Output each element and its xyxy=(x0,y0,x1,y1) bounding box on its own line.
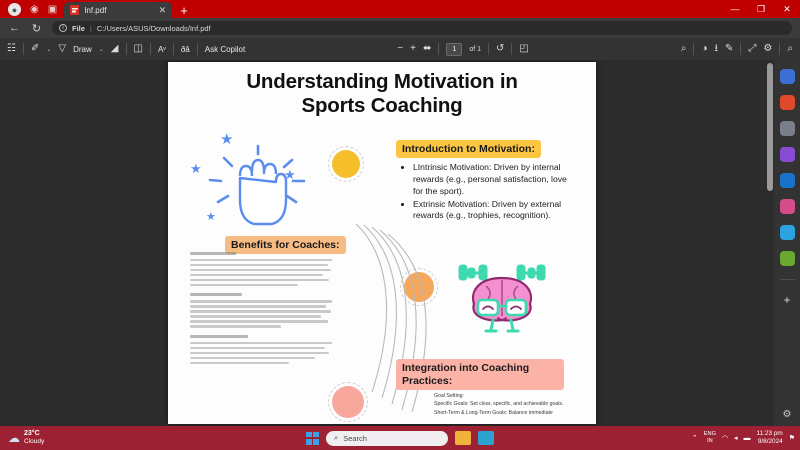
pdf-toolbar: ☷ ✐ ⌄ ▽ Draw ⌄ ◢ ◫ Aᵛ ðâ Ask Copilot − +… xyxy=(0,38,800,60)
sidebar-item-shopping[interactable] xyxy=(780,95,795,110)
introduction-bullet-list: LIntrinsic Motivation: Driven by interna… xyxy=(402,162,574,223)
microtext-line xyxy=(190,315,321,317)
document-scrollbar[interactable] xyxy=(766,60,774,426)
page-total-label: of 1 xyxy=(469,46,481,53)
page-title-line1: Understanding Motivation in xyxy=(194,70,570,94)
back-icon[interactable]: ← xyxy=(8,22,21,34)
search-placeholder: Search xyxy=(343,434,367,443)
taskbar-center-group: ⌕ Search xyxy=(306,431,494,446)
language-line2: IN xyxy=(707,438,713,444)
brain-workout-mascot xyxy=(456,260,548,338)
document-scroll-region[interactable]: Understanding Motivation in Sports Coach… xyxy=(0,60,774,426)
view-layout-icon[interactable]: ◫ xyxy=(134,44,143,54)
page-title-line2: Sports Coaching xyxy=(194,94,570,118)
split-screen-icon[interactable]: ▣ xyxy=(48,5,57,15)
section-heading-introduction: Introduction to Motivation: xyxy=(396,140,541,158)
highlight-icon[interactable]: ✐ xyxy=(31,44,39,54)
toolbar-divider xyxy=(23,43,24,55)
toolbar-divider xyxy=(197,43,198,55)
star-icon: ★ xyxy=(190,162,202,175)
search-icon[interactable]: ⌕ xyxy=(681,44,687,54)
microtext-line xyxy=(190,274,323,276)
pdf-file-icon xyxy=(70,5,79,15)
annotate-icon[interactable]: ✎ xyxy=(725,44,733,54)
weather-condition: Cloudy xyxy=(24,438,44,445)
integration-body-text: Goal Setting: Specific Goals: Set clear,… xyxy=(434,392,584,417)
language-line1: ENG xyxy=(704,431,716,437)
new-tab-button[interactable]: + xyxy=(172,4,196,18)
wifi-icon[interactable]: ◠ xyxy=(722,434,728,442)
microtext-line xyxy=(190,342,332,344)
refresh-icon[interactable]: ↻ xyxy=(30,22,43,35)
notification-bell-icon[interactable]: ⚑ xyxy=(789,434,795,442)
microtext-line xyxy=(190,279,329,281)
microtext-subheading xyxy=(190,335,248,338)
search-icon: ⌕ xyxy=(334,433,338,443)
close-icon[interactable]: ✕ xyxy=(159,5,167,16)
toolbar-divider xyxy=(438,43,439,55)
star-icon: ★ xyxy=(206,212,216,223)
toolbar-divider xyxy=(150,43,151,55)
microtext-line xyxy=(190,269,331,271)
browser-tab-inf-pdf[interactable]: Inf.pdf ✕ xyxy=(64,2,172,18)
microtext-line xyxy=(190,305,326,307)
fit-page-icon[interactable]: ⬌ xyxy=(423,44,431,54)
microtext-subheading xyxy=(190,293,242,296)
window-controls: — ❐ ✕ xyxy=(722,0,800,18)
page-title: Understanding Motivation in Sports Coach… xyxy=(168,62,596,118)
clock-time: 11:23 pm xyxy=(757,430,783,437)
url-separator: | xyxy=(90,24,92,33)
highlight-chevron-down-icon[interactable]: ⌄ xyxy=(46,46,51,53)
browser-tab-strip: ● ◉ ▣ Inf.pdf ✕ + — ❐ ✕ xyxy=(0,0,800,18)
microtext-line xyxy=(190,284,298,286)
toolbar-divider xyxy=(126,43,127,55)
clock-date: 9/8/2024 xyxy=(758,438,783,445)
orb-yellow xyxy=(332,150,360,178)
tray-chevron-up-icon[interactable]: ⌃ xyxy=(692,434,698,442)
taskbar-item-file-explorer[interactable] xyxy=(455,431,471,445)
sidebar-item-outlook[interactable] xyxy=(780,173,795,188)
toolbar-divider xyxy=(740,43,741,55)
section-heading-integration: Integration into Coaching Practices: xyxy=(396,359,564,390)
toolbar-divider xyxy=(693,43,694,55)
raised-fist-icon xyxy=(198,140,318,232)
minimize-button[interactable]: — xyxy=(722,0,748,18)
erase-icon[interactable]: ◢ xyxy=(111,44,119,54)
toolbar-divider xyxy=(779,43,780,55)
star-icon: ★ xyxy=(220,132,233,147)
sidebar-item-tree[interactable] xyxy=(780,251,795,266)
microtext-line xyxy=(190,362,289,364)
clock[interactable]: 11:23 pm 9/8/2024 xyxy=(757,430,783,445)
pdf-page-1: Understanding Motivation in Sports Coach… xyxy=(168,62,596,424)
sidebar-settings-gear-icon[interactable]: ⚙ xyxy=(783,409,792,420)
settings-gear-icon[interactable]: ⚙ xyxy=(763,44,772,54)
language-indicator[interactable]: ENG IN xyxy=(704,431,716,444)
microtext-line xyxy=(190,347,325,349)
close-window-button[interactable]: ✕ xyxy=(774,0,800,18)
microtext-line xyxy=(190,300,332,302)
volume-icon[interactable]: ◂ xyxy=(734,434,738,442)
zoom-out-button[interactable]: − xyxy=(397,44,403,54)
maximize-button[interactable]: ❐ xyxy=(748,0,774,18)
microtext-line xyxy=(190,325,281,327)
tab-title: Inf.pdf xyxy=(84,6,153,15)
window-system-icons: ● ◉ ▣ xyxy=(0,3,64,18)
table-of-contents-icon[interactable]: ☷ xyxy=(7,44,16,54)
toolbar-divider xyxy=(511,43,512,55)
system-tray: ⌃ ENG IN ◠ ◂ ▬ 11:23 pm 9/8/2024 ⚑ xyxy=(692,430,795,445)
benefits-body-text xyxy=(190,252,332,367)
search-input[interactable]: ⌕ Search xyxy=(326,431,448,446)
draw-icon[interactable]: ▽ xyxy=(58,44,66,54)
save-icon[interactable]: ⭳ xyxy=(715,44,719,54)
profile-icon[interactable]: ● xyxy=(8,3,21,16)
microtext-line xyxy=(190,352,329,354)
ask-copilot-button[interactable]: Ask Copilot xyxy=(205,45,245,54)
pdf-workspace: Understanding Motivation in Sports Coach… xyxy=(0,60,800,426)
draw-chevron-down-icon[interactable]: ⌄ xyxy=(99,46,104,53)
read-aloud-icon[interactable]: Aᵛ xyxy=(158,45,166,54)
add-sidebar-app-button[interactable]: + xyxy=(783,293,790,307)
more-search-icon[interactable]: ⌕ xyxy=(787,44,793,54)
star-icon: ★ xyxy=(284,168,296,181)
cloud-icon: ☁ xyxy=(8,432,20,444)
sidebar-item-media[interactable] xyxy=(780,199,795,214)
toolbar-divider xyxy=(173,43,174,55)
sidebar-divider xyxy=(780,279,795,280)
toolbar-divider xyxy=(488,43,489,55)
sidebar-item-games[interactable] xyxy=(780,147,795,162)
weather-temperature: 23°C xyxy=(24,430,40,437)
rotate-icon[interactable]: ↺ xyxy=(496,44,504,54)
url-input[interactable]: i File | C:/Users/ASUS/Downloads/Inf.pdf xyxy=(52,21,792,35)
draw-button[interactable]: Draw xyxy=(73,45,92,54)
weather-widget[interactable]: ☁ 23°C Cloudy xyxy=(0,430,44,446)
microtext-line xyxy=(190,357,315,359)
copilot-icon[interactable]: ◉ xyxy=(30,5,39,15)
scrollbar-thumb[interactable] xyxy=(767,63,773,191)
microtext-subheading xyxy=(190,252,236,255)
fullscreen-icon[interactable]: ⤢ xyxy=(748,44,756,54)
microtext-line xyxy=(190,264,328,266)
start-button[interactable] xyxy=(306,432,319,445)
weather-text: 23°C Cloudy xyxy=(24,430,44,446)
page-layout-icon[interactable]: ◰ xyxy=(519,44,528,54)
list-item: LIntrinsic Motivation: Driven by interna… xyxy=(413,162,574,198)
zoom-in-button[interactable]: + xyxy=(410,44,416,54)
sidebar-item-tools[interactable] xyxy=(780,121,795,136)
text-tool-icon[interactable]: ðâ xyxy=(181,45,190,54)
taskbar-item-edge[interactable] xyxy=(478,431,494,445)
sidebar-item-copilot[interactable] xyxy=(780,69,795,84)
microtext-line xyxy=(190,310,331,312)
microtext-line xyxy=(190,320,328,322)
page-number-input[interactable]: 1 xyxy=(446,43,462,56)
address-bar: ← ↻ i File | C:/Users/ASUS/Downloads/Inf… xyxy=(0,18,800,38)
url-text: C:/Users/ASUS/Downloads/Inf.pdf xyxy=(97,24,211,33)
sidebar-item-telegram[interactable] xyxy=(780,225,795,240)
site-info-icon[interactable]: i xyxy=(59,24,67,32)
battery-icon[interactable]: ▬ xyxy=(744,435,751,442)
read-mode-icon[interactable]: ◑ xyxy=(701,44,707,54)
microtext-line xyxy=(190,259,332,261)
windows-taskbar: ☁ 23°C Cloudy ⌕ Search ⌃ ENG IN ◠ ◂ ▬ 11… xyxy=(0,426,800,450)
edge-sidebar: + ⚙ xyxy=(774,60,800,426)
list-item: Extrinsic Motivation: Driven by external… xyxy=(413,199,574,223)
url-scheme-label: File xyxy=(72,24,85,33)
